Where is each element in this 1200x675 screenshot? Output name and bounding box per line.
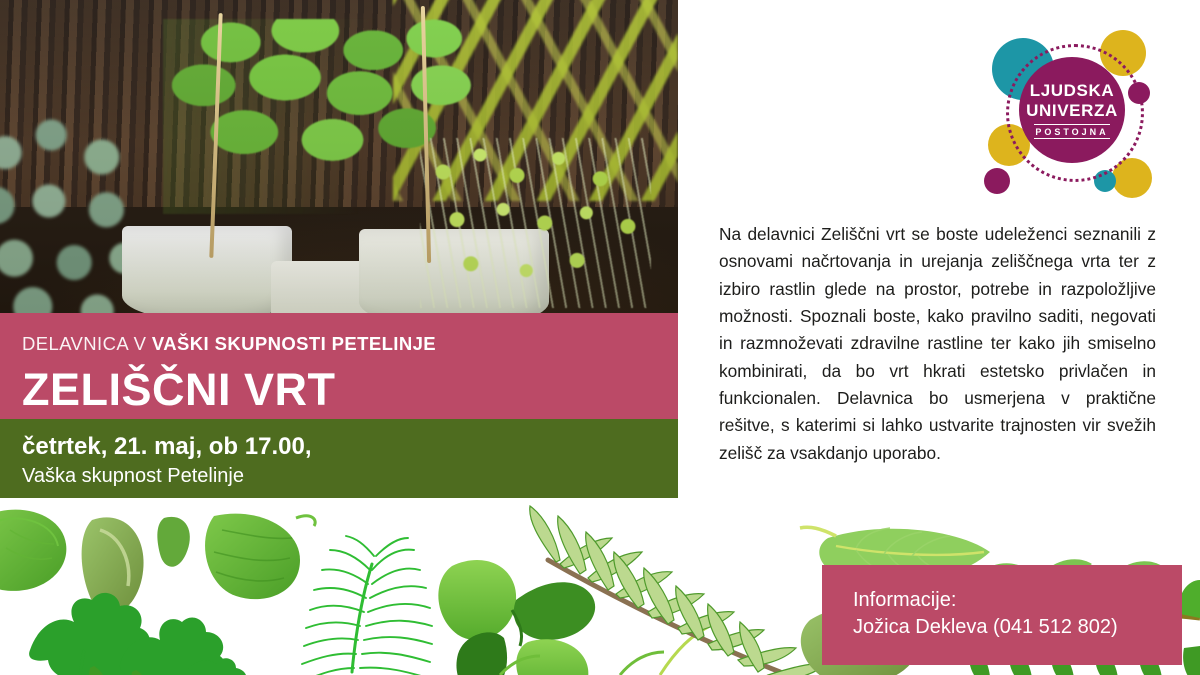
logo-line-2: UNIVERZA [1026,102,1118,119]
contact-info-box: Informacije: Jožica Dekleva (041 512 802… [822,565,1182,665]
banner-kicker: DELAVNICA V VAŠKI SKUPNOSTI PETELINJE [22,335,678,354]
herb-pointed-leaf [205,514,315,600]
poster-canvas: DELAVNICA V VAŠKI SKUPNOSTI PETELINJE ZE… [0,0,1200,675]
schedule-band: četrtek, 21. maj, ob 17.00, Vaška skupno… [0,419,678,498]
event-place: Vaška skupnost Petelinje [22,464,678,489]
herb-small-leaf [157,517,190,567]
logo-purple-circle-bottom [984,168,1010,194]
event-date: četrtek, 21. maj, ob 17.00, [22,433,678,461]
logo-line-3: POSTOJNA [1034,124,1109,139]
title-band: DELAVNICA V VAŠKI SKUPNOSTI PETELINJE ZE… [0,313,678,419]
herb-dill-sprig [302,536,432,675]
banner-kicker-bold: VAŠKI SKUPNOSTI PETELINJE [152,333,436,354]
herb-basil-leaf-1 [0,510,66,591]
photo-overlay [0,0,678,314]
organization-logo: LJUDSKA UNIVERZA POSTOJNA [976,24,1158,204]
logo-core-circle: LJUDSKA UNIVERZA POSTOJNA [1019,57,1125,163]
logo-line-1: LJUDSKA [1030,82,1115,99]
description-text: Na delavnici Zeliščni vrt se boste udele… [719,221,1156,467]
herb-basil-cluster [438,560,595,675]
info-label: Informacije: [853,587,1182,614]
info-contact: Jožica Dekleva (041 512 802) [853,614,1182,641]
page-title: ZELIŠČNI VRT [22,367,678,412]
hero-photo [0,0,678,314]
banner-kicker-light: DELAVNICA V [22,333,152,354]
